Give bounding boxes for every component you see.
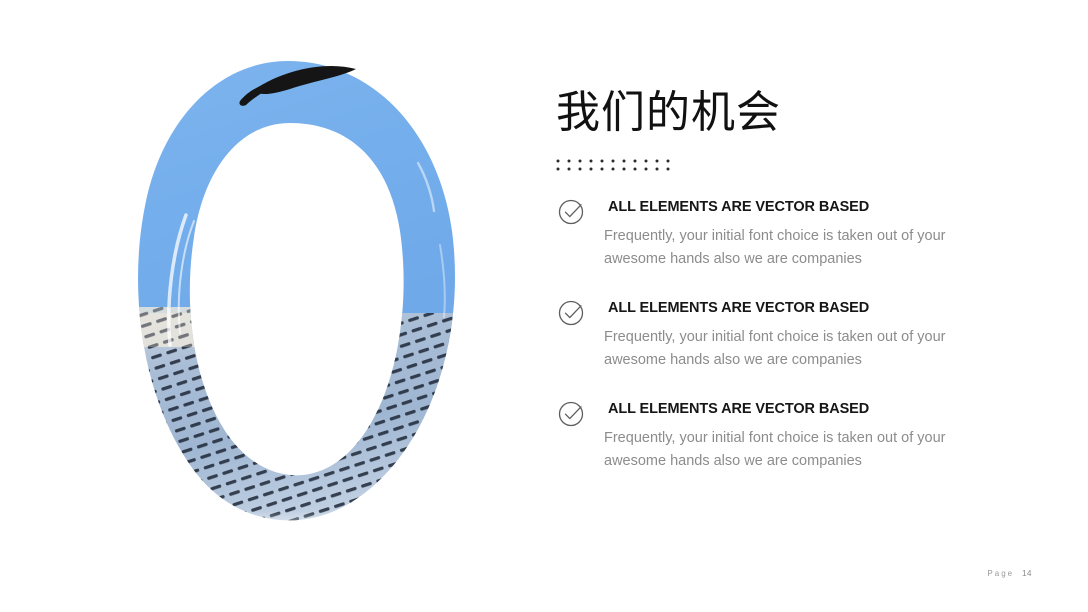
dot-grid-decoration: [556, 159, 676, 171]
feature-body: Frequently, your initial font choice is …: [604, 427, 984, 474]
content-column: 我们的机会: [556, 88, 1026, 474]
feature-heading: ALL ELEMENTS ARE VECTOR BASED: [608, 296, 1026, 316]
feature-heading: ALL ELEMENTS ARE VECTOR BASED: [608, 195, 1026, 215]
slide-canvas: 我们的机会: [0, 0, 1088, 612]
circle-check-icon: [556, 296, 588, 328]
brush-stroke-ring-artwork: [100, 45, 480, 535]
feature-body: Frequently, your initial font choice is …: [604, 225, 984, 272]
page-number-value: 14: [1022, 569, 1032, 578]
page-title: 我们的机会: [556, 88, 1026, 139]
circle-check-icon: [556, 397, 588, 429]
page-number-footer: Page 14: [987, 569, 1032, 578]
feature-body: Frequently, your initial font choice is …: [604, 326, 984, 373]
feature-item[interactable]: ALL ELEMENTS ARE VECTOR BASED Frequently…: [556, 296, 1026, 373]
page-label: Page: [987, 569, 1014, 578]
circle-check-icon: [556, 195, 588, 227]
feature-item[interactable]: ALL ELEMENTS ARE VECTOR BASED Frequently…: [556, 195, 1026, 272]
feature-item[interactable]: ALL ELEMENTS ARE VECTOR BASED Frequently…: [556, 397, 1026, 474]
feature-list: ALL ELEMENTS ARE VECTOR BASED Frequently…: [556, 195, 1026, 474]
feature-heading: ALL ELEMENTS ARE VECTOR BASED: [608, 397, 1026, 417]
